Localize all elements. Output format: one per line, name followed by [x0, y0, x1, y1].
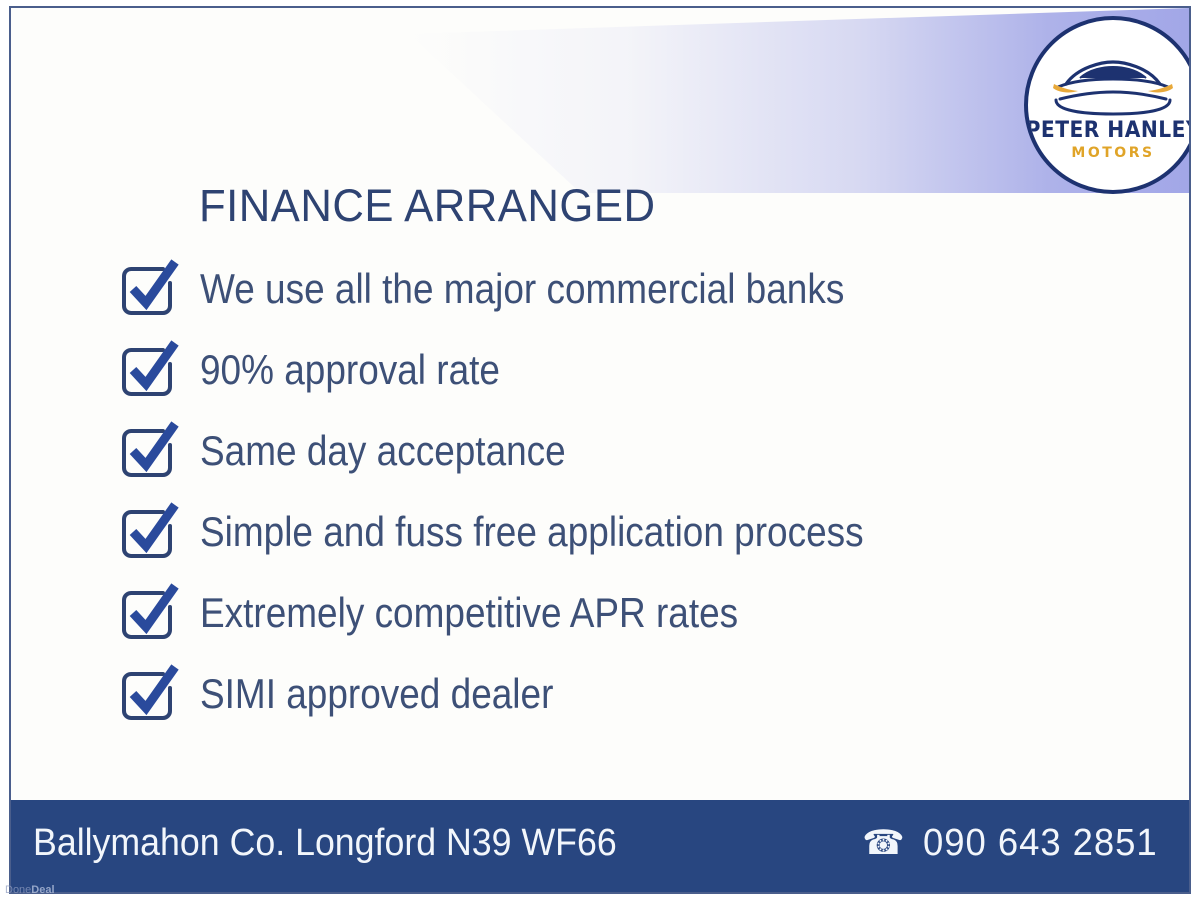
list-item-label: Extremely competitive APR rates [200, 592, 738, 634]
checkbox-checked-icon [117, 662, 181, 726]
telephone-icon: ☎ [862, 826, 904, 860]
advert-card: PETER HANLEY MOTORS FINANCE ARRANGED We … [9, 6, 1191, 894]
watermark-prefix: Done [5, 884, 31, 896]
list-item: Extremely competitive APR rates [117, 572, 1117, 653]
checkbox-checked-icon [117, 581, 181, 645]
list-item-label: SIMI approved dealer [200, 673, 553, 715]
contact-footer: Ballymahon Co. Longford N39 WF66 ☎ 090 6… [11, 800, 1189, 892]
checkbox-checked-icon [117, 257, 181, 321]
list-item: We use all the major commercial banks [117, 248, 1117, 329]
dealer-address: Ballymahon Co. Longford N39 WF66 [33, 822, 617, 865]
list-item-label: Simple and fuss free application process [200, 511, 864, 553]
list-item-label: We use all the major commercial banks [200, 268, 844, 310]
advert-canvas: PETER HANLEY MOTORS FINANCE ARRANGED We … [0, 0, 1200, 900]
list-item: SIMI approved dealer [117, 653, 1117, 734]
watermark-suffix: Deal [31, 884, 54, 896]
feature-list: We use all the major commercial banks 90… [117, 248, 1117, 734]
list-item-label: 90% approval rate [200, 349, 500, 391]
list-item: 90% approval rate [117, 329, 1117, 410]
car-front-icon [1044, 54, 1182, 118]
page-title: FINANCE ARRANGED [199, 180, 655, 232]
logo-subword: MOTORS [1071, 146, 1154, 160]
dealer-phone[interactable]: ☎ 090 643 2851 [862, 822, 1167, 865]
list-item: Same day acceptance [117, 410, 1117, 491]
phone-number: 090 643 2851 [923, 822, 1158, 865]
checkbox-checked-icon [117, 419, 181, 483]
dealer-logo: PETER HANLEY MOTORS [1024, 16, 1191, 194]
logo-wordmark: PETER HANLEY [1025, 120, 1191, 142]
checkbox-checked-icon [117, 338, 181, 402]
list-item-label: Same day acceptance [200, 430, 566, 472]
checkbox-checked-icon [117, 500, 181, 564]
site-watermark: DoneDeal [5, 885, 55, 896]
list-item: Simple and fuss free application process [117, 491, 1117, 572]
